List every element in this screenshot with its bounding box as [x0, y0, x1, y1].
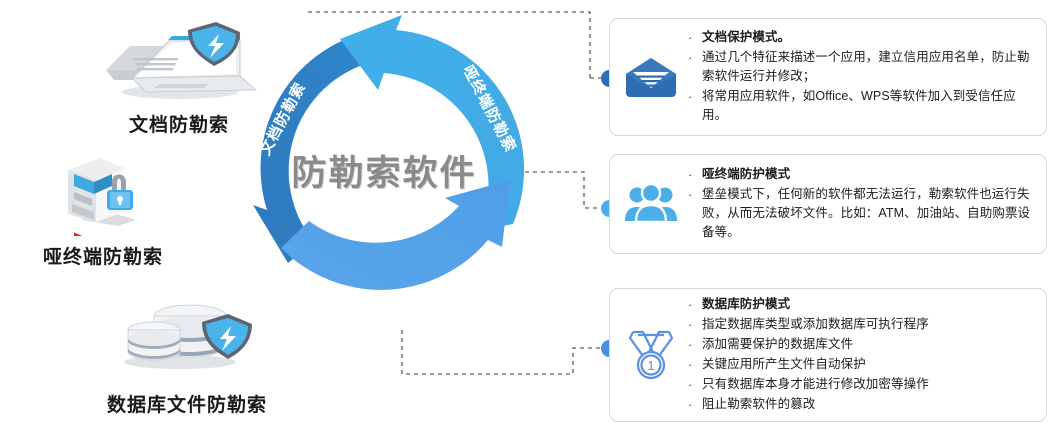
card-line: · 关键应用所产生文件自动保护: [688, 355, 1032, 374]
bullet-glyph: ·: [688, 375, 702, 394]
product-label: 哑终端防勒索: [8, 242, 198, 269]
bullet-glyph: ·: [688, 355, 702, 374]
card-document-body: · 文档保护模式。 · 通过几个特征来描述一个应用，建立信用应用名单，防止勒索软…: [682, 28, 1032, 126]
card-line: · 堡垒模式下，任何新的软件都无法运行，勒索软件也运行失败，从而无法破坏文件。比…: [688, 185, 1032, 242]
connector-database: [402, 330, 604, 374]
bullet-glyph: ·: [688, 185, 702, 204]
card-line: · 阻止勒索软件的篡改: [688, 395, 1032, 414]
card-line-text: 关键应用所产生文件自动保护: [702, 355, 1032, 374]
bullet-glyph: ·: [688, 165, 702, 184]
card-line-text: 添加需要保护的数据库文件: [702, 335, 1032, 354]
cycle-arcs: [236, 12, 532, 328]
bullet-glyph: ·: [688, 315, 702, 334]
card-line: · 指定数据库类型或添加数据库可执行程序: [688, 315, 1032, 334]
card-terminal-body: · 哑终端防护模式 · 堡垒模式下，任何新的软件都无法运行，勒索软件也运行失败，…: [682, 165, 1032, 243]
card-line-text: 文档保护模式。: [702, 28, 1032, 47]
envelope-icon: [620, 46, 682, 108]
svg-text:ATM: ATM: [86, 235, 99, 236]
card-line-text: 堡垒模式下，任何新的软件都无法运行，勒索软件也运行失败，从而无法破坏文件。比如：…: [702, 185, 1032, 242]
card-database-body: · 数据库防护模式 · 指定数据库类型或添加数据库可执行程序 · 添加需要保护的…: [682, 295, 1032, 415]
bullet-glyph: ·: [688, 48, 702, 67]
card-terminal[interactable]: · 哑终端防护模式 · 堡垒模式下，任何新的软件都无法运行，勒索软件也运行失败，…: [609, 154, 1047, 254]
product-item-terminal: ATM 哑终端防勒索: [8, 150, 198, 269]
medal-icon: 1: [620, 324, 682, 386]
cycle-diagram: 文档防勒索 哑终端防勒索 数据库文件防勒索 防勒索软件: [236, 12, 532, 328]
bullet-glyph: ·: [688, 87, 702, 106]
card-line: · 添加需要保护的数据库文件: [688, 335, 1032, 354]
card-line-text: 将常用应用软件，如Office、WPS等软件加入到受信任应用。: [702, 87, 1032, 125]
card-line: · 将常用应用软件，如Office、WPS等软件加入到受信任应用。: [688, 87, 1032, 125]
card-line: · 通过几个特征来描述一个应用，建立信用应用名单，防止勒索软件运行并修改；: [688, 48, 1032, 86]
bullet-glyph: ·: [688, 295, 702, 314]
card-line-text: 只有数据库本身才能进行修改加密等操作: [702, 375, 1032, 394]
bullet-glyph: ·: [688, 28, 702, 47]
bullet-glyph: ·: [688, 335, 702, 354]
product-label: 数据库文件防勒索: [82, 390, 292, 417]
card-line-text: 数据库防护模式: [702, 295, 1032, 314]
atm-kiosk-lock-icon: ATM: [8, 150, 198, 236]
card-line-text: 阻止勒索软件的篡改: [702, 395, 1032, 414]
card-line: · 文档保护模式。: [688, 28, 1032, 47]
connector-terminal: [525, 172, 604, 208]
people-group-icon: [620, 173, 682, 235]
card-line: · 数据库防护模式: [688, 295, 1032, 314]
card-line-text: 哑终端防护模式: [702, 165, 1032, 184]
arc-database: [281, 180, 510, 290]
svg-text:1: 1: [647, 358, 654, 373]
card-database[interactable]: 1 · 数据库防护模式 · 指定数据库类型或添加数据库可执行程序 · 添加需要保…: [609, 288, 1047, 422]
card-line: · 哑终端防护模式: [688, 165, 1032, 184]
card-line-text: 指定数据库类型或添加数据库可执行程序: [702, 315, 1032, 334]
infographic-canvas: 文档防勒索 ATM 哑: [0, 0, 1056, 430]
card-document[interactable]: · 文档保护模式。 · 通过几个特征来描述一个应用，建立信用应用名单，防止勒索软…: [609, 18, 1047, 136]
card-line: · 只有数据库本身才能进行修改加密等操作: [688, 375, 1032, 394]
card-line-text: 通过几个特征来描述一个应用，建立信用应用名单，防止勒索软件运行并修改；: [702, 48, 1032, 86]
bullet-glyph: ·: [688, 395, 702, 414]
